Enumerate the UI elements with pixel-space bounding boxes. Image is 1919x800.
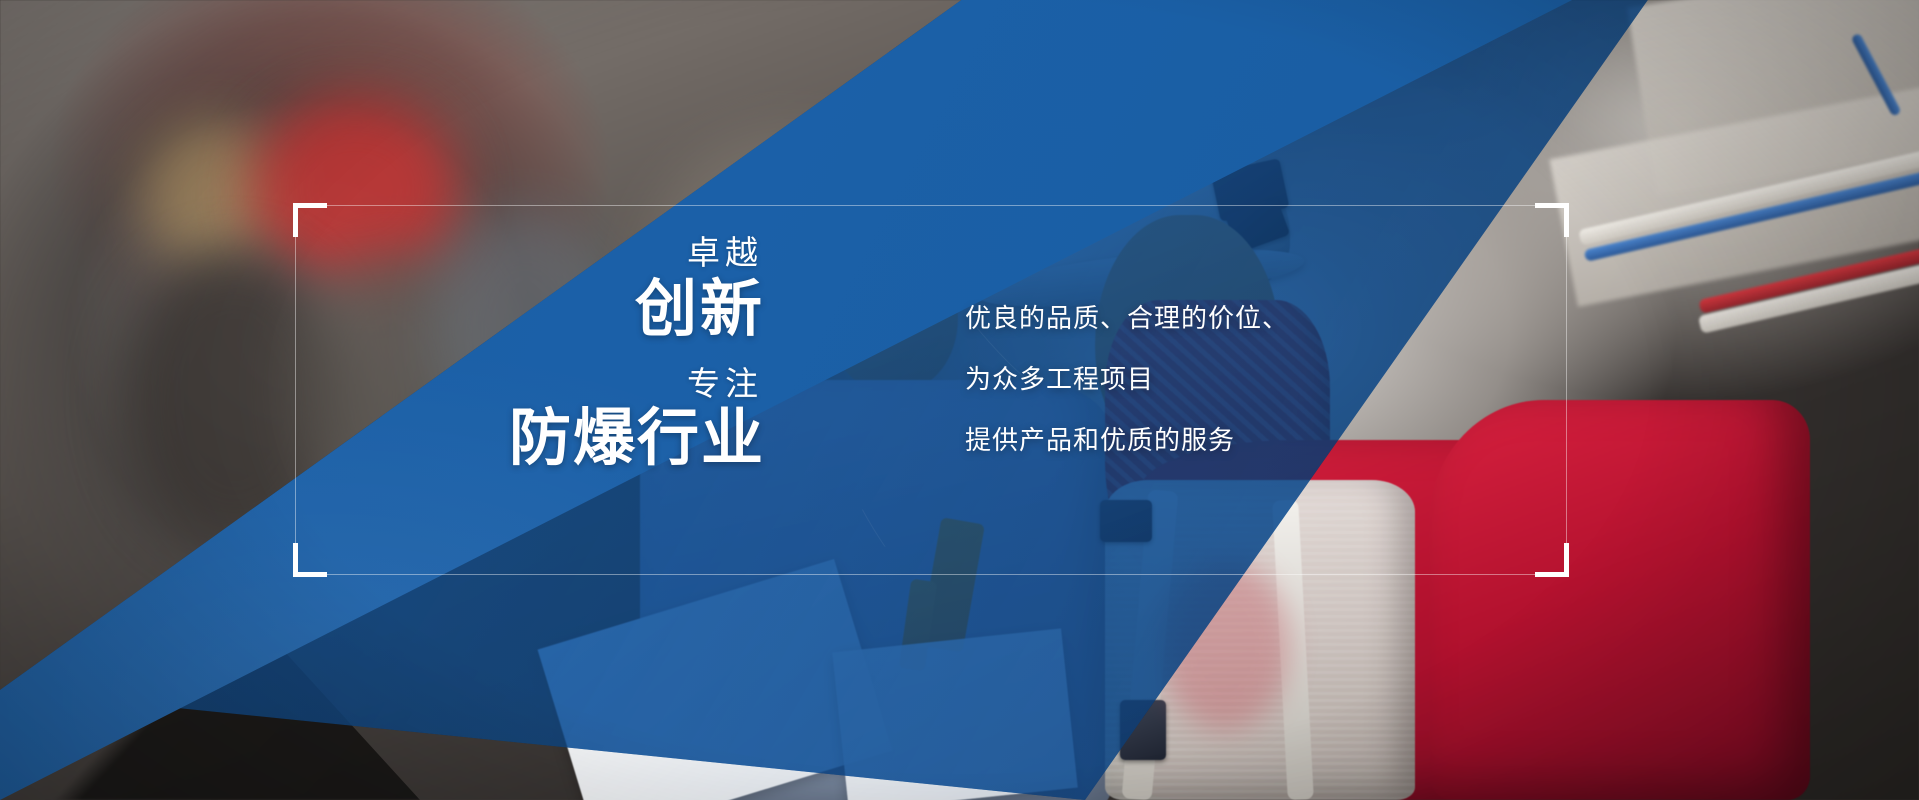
headline-line-2: 创新 bbox=[340, 279, 765, 341]
description-line-3: 提供产品和优质的服务 bbox=[965, 427, 1289, 453]
description-block: 优良的品质、合理的价位、 为众多工程项目 提供产品和优质的服务 bbox=[965, 305, 1289, 453]
headline-block: 卓越 创新 专注 防爆行业 bbox=[340, 236, 765, 470]
hero-banner: 卓越 创新 专注 防爆行业 优良的品质、合理的价位、 为众多工程项目 提供产品和… bbox=[0, 0, 1919, 800]
headline-line-4: 防爆行业 bbox=[340, 408, 765, 470]
headline-line-3: 专注 bbox=[340, 367, 765, 400]
headline-line-1: 卓越 bbox=[340, 236, 765, 269]
description-line-2: 为众多工程项目 bbox=[965, 366, 1289, 392]
description-line-1: 优良的品质、合理的价位、 bbox=[965, 305, 1289, 331]
banner-content: 卓越 创新 专注 防爆行业 优良的品质、合理的价位、 为众多工程项目 提供产品和… bbox=[0, 0, 1919, 800]
